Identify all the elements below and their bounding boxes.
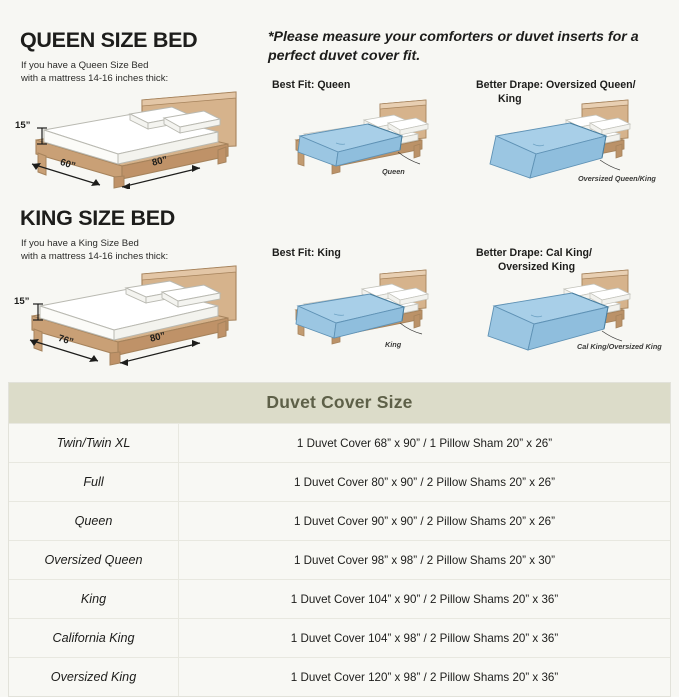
row-desc: 1 Duvet Cover 104” x 90” / 2 Pillow Sham… [179, 580, 670, 618]
duvet-bed-queen-best-fit [276, 96, 456, 176]
row-desc: 1 Duvet Cover 98” x 98” / 2 Pillow Shams… [179, 541, 670, 579]
row-size: King [9, 580, 179, 618]
caption-cal-king-oversized-king: Cal King/Oversized King [577, 342, 662, 351]
duvet-bed-king-best-fit [276, 266, 456, 346]
queen-bed-illustration [14, 84, 254, 189]
measure-note: *Please measure your comforters or duvet… [268, 28, 676, 66]
queen-subtitle-line2: with a mattress 14-16 inches thick: [21, 73, 168, 84]
row-desc: 1 Duvet Cover 104” x 98” / 2 Pillow Sham… [179, 619, 670, 657]
duvet-size-guide: QUEEN SIZE BED If you have a Queen Size … [0, 0, 679, 679]
table-title: Duvet Cover Size [9, 383, 670, 423]
duvet-cover-size-table: Duvet Cover Size Twin/Twin XL 1 Duvet Co… [8, 382, 671, 697]
table-row: Twin/Twin XL 1 Duvet Cover 68” x 90” / 1… [9, 423, 670, 462]
row-size: Queen [9, 502, 179, 540]
row-size: California King [9, 619, 179, 657]
table-row: California King 1 Duvet Cover 104” x 98”… [9, 618, 670, 657]
king-section-title: KING SIZE BED [20, 206, 175, 231]
row-desc: 1 Duvet Cover 90” x 90” / 2 Pillow Shams… [179, 502, 670, 540]
king-section: KING SIZE BED If you have a King Size Be… [0, 196, 262, 378]
king-height-dim: 15” [14, 296, 29, 307]
row-size: Twin/Twin XL [9, 424, 179, 462]
queen-height-dim: 15” [15, 120, 30, 131]
heading-ok-line1: Better Drape: Cal King/ [476, 247, 592, 259]
queen-section-title: QUEEN SIZE BED [20, 28, 197, 53]
king-subtitle-line1: If you have a King Size Bed [21, 238, 139, 249]
queen-subtitle-line1: If you have a Queen Size Bed [21, 60, 148, 71]
row-desc: 1 Duvet Cover 80” x 90” / 2 Pillow Shams… [179, 463, 670, 501]
table-row: Oversized Queen 1 Duvet Cover 98” x 98” … [9, 540, 670, 579]
heading-best-fit-king: Best Fit: King [272, 246, 452, 260]
row-desc: 1 Duvet Cover 68” x 90” / 1 Pillow Sham … [179, 424, 670, 462]
queen-section-subtitle: If you have a Queen Size Bed with a matt… [21, 60, 168, 85]
table-row: King 1 Duvet Cover 104” x 90” / 2 Pillow… [9, 579, 670, 618]
row-desc: 1 Duvet Cover 120” x 98” / 2 Pillow Sham… [179, 658, 670, 696]
caption-king: King [385, 340, 401, 349]
table-row: Oversized King 1 Duvet Cover 120” x 98” … [9, 657, 670, 696]
duvet-bed-cal-king [478, 266, 668, 352]
heading-best-fit-queen: Best Fit: Queen [272, 78, 452, 92]
king-bed-illustration [14, 258, 254, 368]
table-row: Queen 1 Duvet Cover 90” x 90” / 2 Pillow… [9, 501, 670, 540]
table-row: Full 1 Duvet Cover 80” x 90” / 2 Pillow … [9, 462, 670, 501]
row-size: Oversized King [9, 658, 179, 696]
caption-queen: Queen [382, 167, 405, 176]
heading-oq-line1: Better Drape: Oversized Queen/ [476, 79, 636, 91]
duvet-bed-oversized-queen [478, 96, 668, 182]
row-size: Full [9, 463, 179, 501]
caption-oversized-queen-king: Oversized Queen/King [578, 174, 656, 183]
row-size: Oversized Queen [9, 541, 179, 579]
